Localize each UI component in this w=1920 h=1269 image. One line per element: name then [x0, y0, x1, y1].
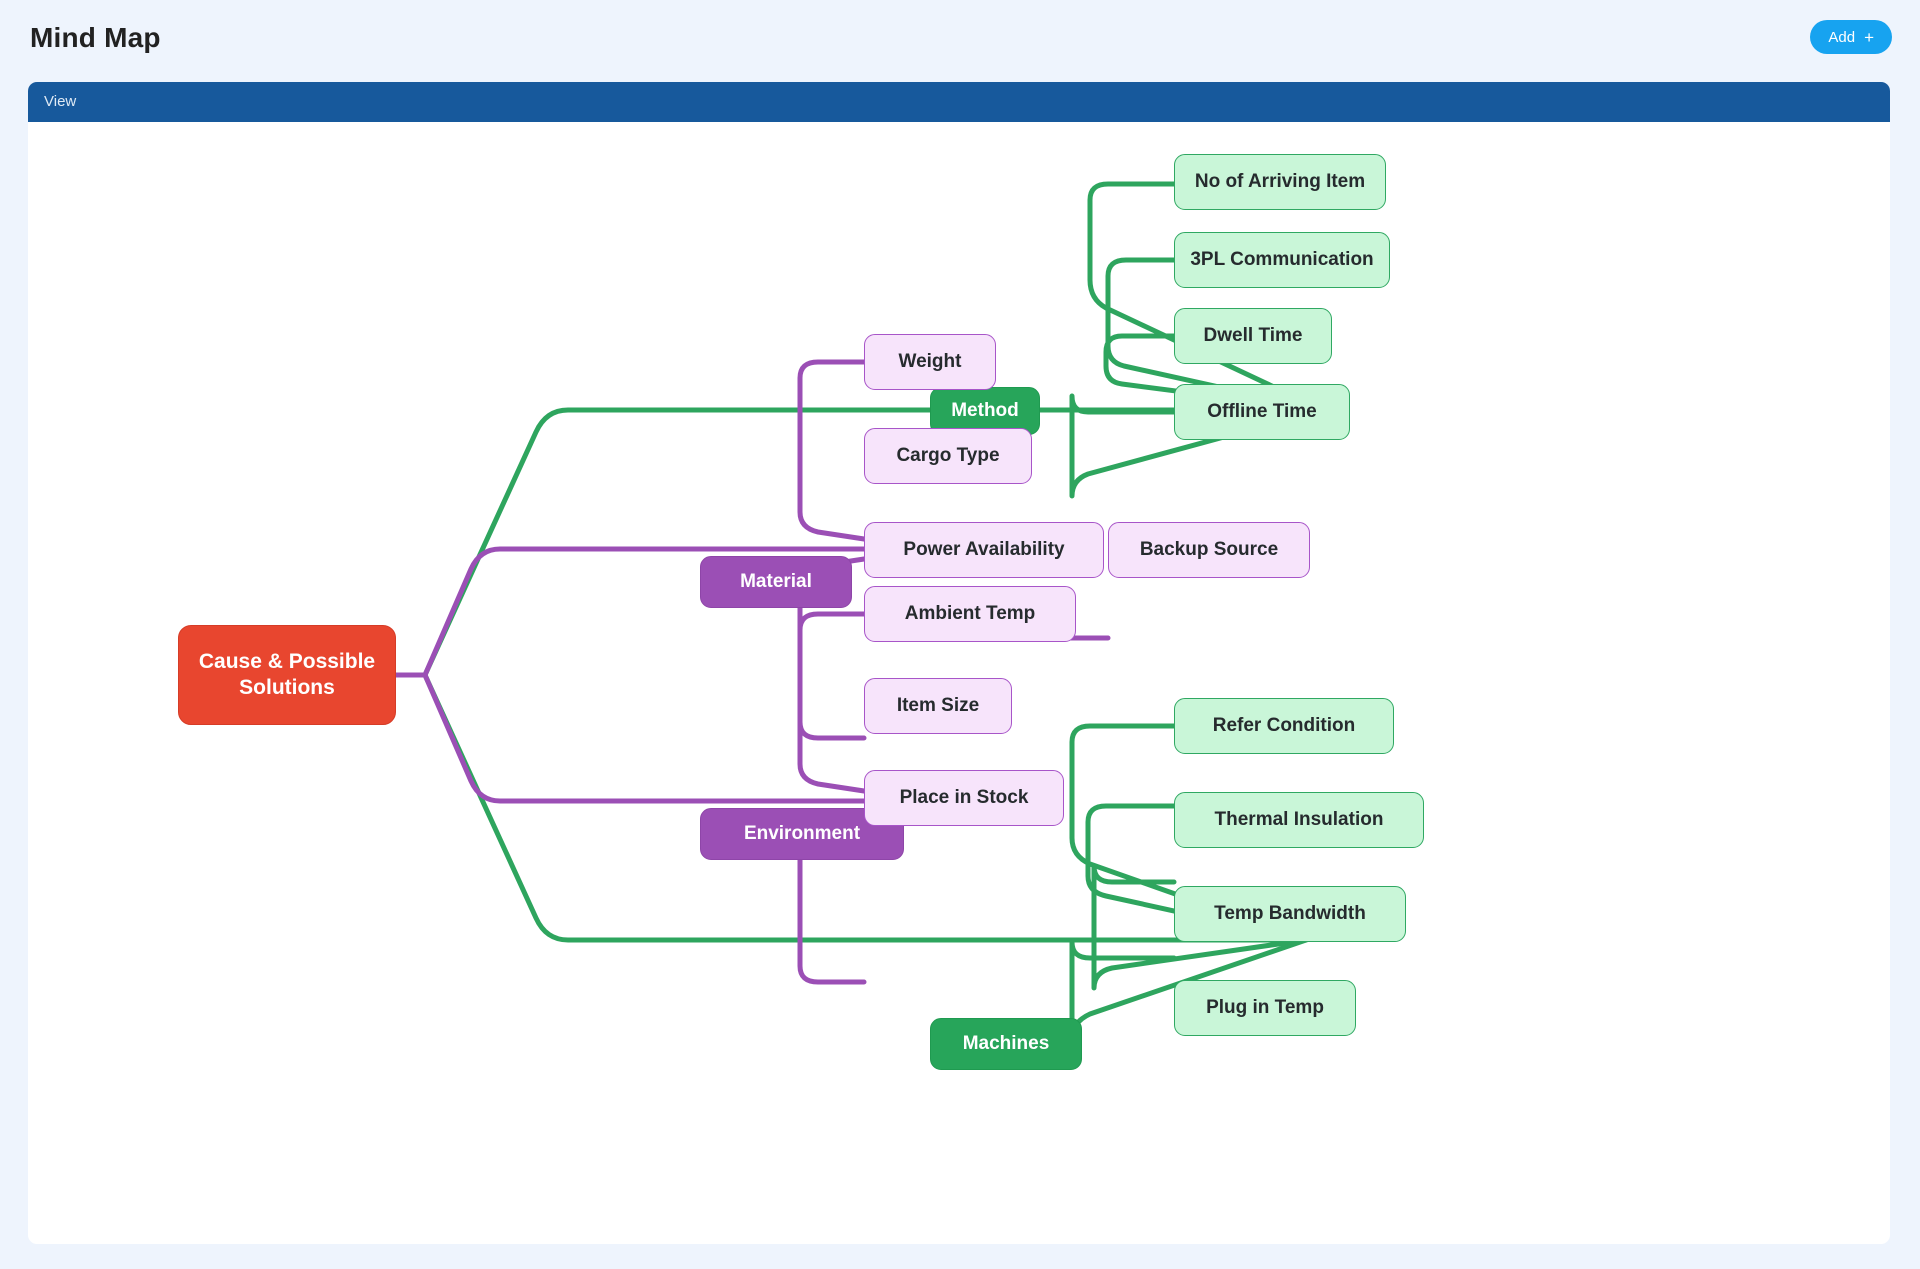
node-leaf-item-size[interactable]: Item Size [864, 678, 1012, 734]
add-button[interactable]: Add + [1810, 20, 1892, 54]
plus-icon: + [1864, 29, 1874, 46]
node-leaf-3pl-communication[interactable]: 3PL Communication [1174, 232, 1390, 288]
node-branch-material[interactable]: Material [700, 556, 852, 608]
node-leaf-weight[interactable]: Weight [864, 334, 996, 390]
mind-map-canvas[interactable]: Cause & Possible Solutions Method No of … [28, 122, 1890, 1244]
node-leaf-backup-source[interactable]: Backup Source [1108, 522, 1310, 578]
node-leaf-ambient-temp[interactable]: Ambient Temp [864, 586, 1076, 642]
node-leaf-offline-time[interactable]: Offline Time [1174, 384, 1350, 440]
node-leaf-temp-bandwidth[interactable]: Temp Bandwidth [1174, 886, 1406, 942]
menu-item-view[interactable]: View [28, 82, 92, 122]
edge-method-no-of-arriving-item [1090, 184, 1323, 410]
node-leaf-no-of-arriving-item[interactable]: No of Arriving Item [1174, 154, 1386, 210]
node-leaf-plug-in-temp[interactable]: Plug in Temp [1174, 980, 1356, 1036]
node-leaf-refer-condition[interactable]: Refer Condition [1174, 698, 1394, 754]
node-leaf-cargo-type[interactable]: Cargo Type [864, 428, 1032, 484]
menu-bar: View [28, 82, 1890, 122]
mind-map-app: Mind Map Add + View [0, 0, 1920, 1269]
node-root[interactable]: Cause & Possible Solutions [178, 625, 396, 725]
node-leaf-power-availability[interactable]: Power Availability [864, 522, 1104, 578]
page-title: Mind Map [30, 22, 161, 54]
node-branch-machines[interactable]: Machines [930, 1018, 1082, 1070]
node-leaf-dwell-time[interactable]: Dwell Time [1174, 308, 1332, 364]
node-leaf-thermal-insulation[interactable]: Thermal Insulation [1174, 792, 1424, 848]
add-button-label: Add [1828, 29, 1855, 46]
page-header: Mind Map Add + [0, 0, 1920, 74]
node-leaf-place-in-stock[interactable]: Place in Stock [864, 770, 1064, 826]
